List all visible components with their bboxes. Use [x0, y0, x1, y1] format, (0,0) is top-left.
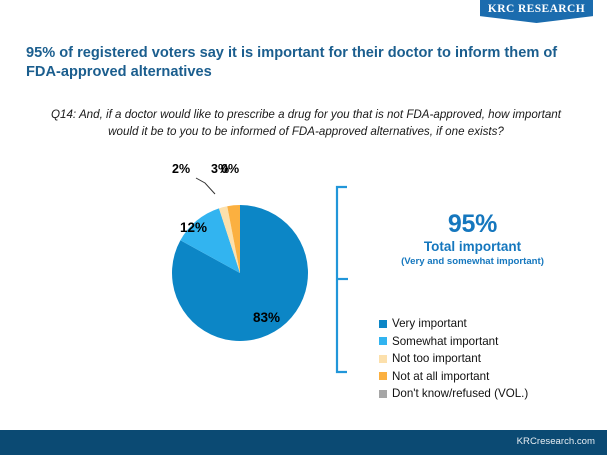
callout-value: 95% — [360, 210, 585, 238]
legend-item[interactable]: Somewhat important — [379, 333, 528, 351]
pie-label-very-important: 83% — [253, 310, 280, 325]
footer-bar: KRCresearch.com — [0, 430, 607, 455]
legend-label: Very important — [392, 317, 467, 330]
krc-research-logo: KRC RESEARCH — [480, 0, 593, 23]
pie-label-not-too-important: 2% — [172, 162, 190, 176]
legend-swatch-icon — [379, 320, 387, 328]
legend-label: Not at all important — [392, 370, 489, 383]
pie-chart-container: 83% 12% 2% 3% 0% 95% Total important (Ve… — [0, 150, 607, 425]
pie-label-somewhat-important: 12% — [180, 220, 207, 235]
footer-website: KRCresearch.com — [517, 436, 595, 447]
page-title: 95% of registered voters say it is impor… — [26, 44, 566, 82]
total-important-callout: 95% Total important (Very and somewhat i… — [360, 210, 585, 269]
legend-item[interactable]: Don't know/refused (VOL.) — [379, 385, 528, 403]
callout-subtitle: (Very and somewhat important) — [360, 255, 585, 269]
legend-swatch-icon — [379, 355, 387, 363]
legend-label: Not too important — [392, 352, 481, 365]
logo-text: KRC RESEARCH — [488, 3, 585, 15]
legend-swatch-icon — [379, 337, 387, 345]
pie-label-dont-know: 0% — [221, 162, 239, 176]
legend-swatch-icon — [379, 372, 387, 380]
chart-legend: Very importantSomewhat importantNot too … — [379, 315, 528, 403]
legend-item[interactable]: Very important — [379, 315, 528, 333]
survey-question: Q14: And, if a doctor would like to pres… — [36, 106, 576, 140]
legend-label: Don't know/refused (VOL.) — [392, 387, 528, 400]
legend-item[interactable]: Not too important — [379, 350, 528, 368]
leader-line-not-too-important — [196, 178, 215, 194]
legend-swatch-icon — [379, 390, 387, 398]
callout-title: Total important — [360, 238, 585, 255]
legend-item[interactable]: Not at all important — [379, 368, 528, 386]
legend-label: Somewhat important — [392, 335, 498, 348]
